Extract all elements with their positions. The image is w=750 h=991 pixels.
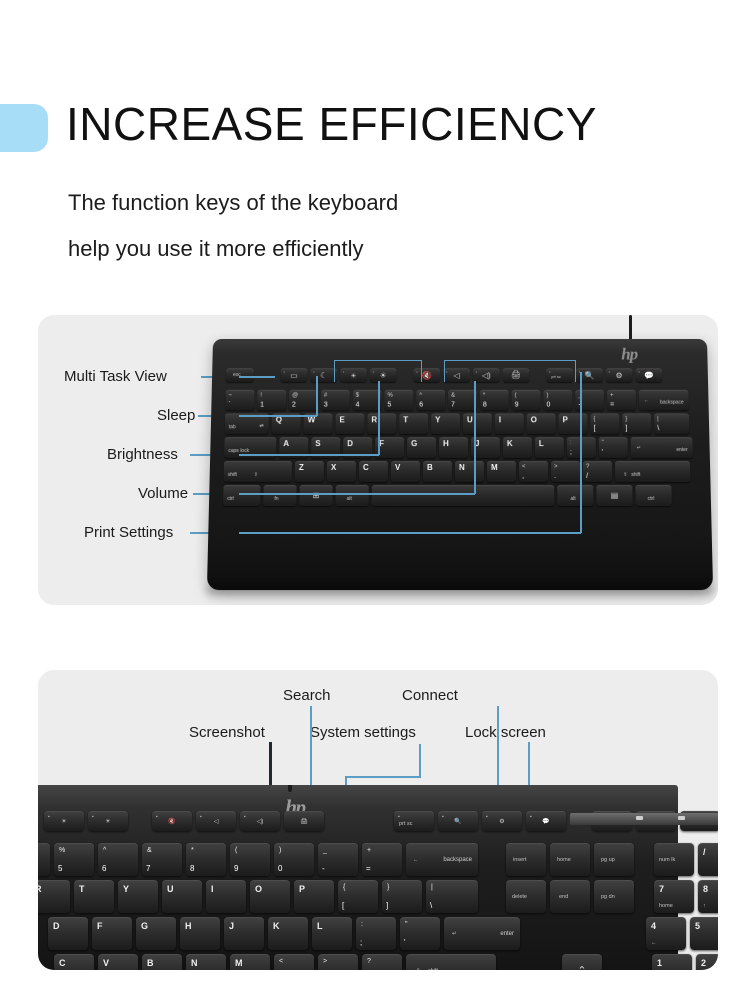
leader-seg-sleep-v [316, 376, 318, 416]
leader-sys-v1 [419, 744, 421, 777]
leader-seg-mtv [239, 376, 275, 378]
key2-numpad-5[interactable]: 5 [690, 917, 718, 950]
key-space[interactable] [372, 485, 555, 506]
key-5[interactable]: %5 [384, 390, 413, 411]
key2-minus[interactable]: _- [318, 843, 358, 876]
key-l[interactable]: L [535, 437, 564, 458]
key2-numpad-4[interactable]: 4← [646, 917, 686, 950]
key2-delete[interactable]: delete [506, 880, 546, 913]
keyboard-panel-top: Multi Task View Sleep Brightness Volume … [38, 315, 718, 605]
key2-bracket-right[interactable]: }] [382, 880, 422, 913]
key-screen-icon[interactable]: ▪▭ [280, 368, 307, 382]
label-connect: Connect [402, 687, 458, 705]
key2-5[interactable]: %5 [54, 843, 94, 876]
label-lock-screen: Lock screen [465, 724, 546, 742]
key-backslash[interactable]: |\ [654, 413, 689, 434]
key-g[interactable]: G [407, 437, 436, 458]
key2-c[interactable]: C [54, 954, 94, 970]
key2-equals[interactable]: += [362, 843, 402, 876]
leader-seg-print-h [239, 532, 581, 534]
key2-print-icon[interactable]: 🖨 [284, 811, 324, 831]
key-8[interactable]: *8 [480, 390, 509, 411]
key-bracket-right[interactable]: }] [622, 413, 651, 434]
key2-gear-icon[interactable]: ▪⚙ [482, 811, 522, 831]
key2-u[interactable]: U [162, 880, 202, 913]
led-indicator-2 [678, 816, 685, 820]
key-b[interactable]: B [423, 461, 452, 482]
key-2[interactable]: @2 [289, 390, 318, 411]
key2-7[interactable]: &7 [142, 843, 182, 876]
key2-b[interactable]: B [142, 954, 182, 970]
key-quote[interactable]: "' [599, 437, 628, 458]
key2-v[interactable]: V [98, 954, 138, 970]
key2-mute-icon[interactable]: ▪🔇 [152, 811, 192, 831]
page-title: INCREASE EFFICIENCY [66, 96, 597, 152]
key-z[interactable]: Z [295, 461, 324, 482]
key2-8[interactable]: *8 [186, 843, 226, 876]
key2-o[interactable]: O [250, 880, 290, 913]
page-root: INCREASE EFFICIENCY The function keys of… [0, 0, 750, 991]
key2-9[interactable]: (9 [230, 843, 270, 876]
key-o[interactable]: O [527, 413, 556, 434]
key-shift-right[interactable]: ⇧shift [615, 461, 690, 482]
key-comma[interactable]: <, [519, 461, 548, 482]
key2-n[interactable]: N [186, 954, 226, 970]
key-7[interactable]: &7 [448, 390, 477, 411]
leader-seg-bright-v [378, 381, 380, 455]
key-p[interactable]: P [559, 413, 588, 434]
bracket-volume [444, 360, 576, 382]
key2-y[interactable]: Y [118, 880, 158, 913]
key-k[interactable]: K [503, 437, 532, 458]
key2-num-lk[interactable]: num lk [654, 843, 694, 876]
led-indicator-1 [636, 816, 643, 820]
key-ctrl-left[interactable]: ctrl [223, 485, 261, 506]
leader-seg-vol-v [474, 381, 476, 494]
subtitle-line-1: The function keys of the keyboard [68, 188, 398, 218]
key2-r[interactable]: R [38, 880, 70, 913]
key2-numpad-2[interactable]: 2↓ [696, 954, 718, 970]
key2-chat-icon[interactable]: ▪💬 [526, 811, 566, 831]
key-h[interactable]: H [439, 437, 468, 458]
subtitle-line-2: help you use it more efficiently [68, 234, 364, 264]
status-bar-strip [570, 813, 718, 825]
key-shift-left[interactable]: shift⇧ [224, 461, 292, 482]
key-9[interactable]: (9 [512, 390, 541, 411]
key-bracket-left[interactable]: {[ [590, 413, 619, 434]
key2-semicolon[interactable]: :; [356, 917, 396, 950]
key2-l[interactable]: L [312, 917, 352, 950]
label-multi-task-view: Multi Task View [64, 368, 167, 386]
key2-brightness-up-icon[interactable]: ▪☀ [88, 811, 128, 831]
key-y[interactable]: Y [431, 413, 460, 434]
key2-volume-up-icon[interactable]: ▪◁) [240, 811, 280, 831]
key2-m[interactable]: M [230, 954, 270, 970]
leader-seg-print-v [580, 372, 582, 533]
key2-home[interactable]: home [550, 843, 590, 876]
key-gear-icon[interactable]: ▪⚙ [606, 368, 633, 382]
key-m[interactable]: M [487, 461, 516, 482]
key2-volume-down-icon[interactable]: ▪◁ [196, 811, 236, 831]
key-alt-right[interactable]: alt [557, 485, 593, 506]
label-sleep: Sleep [157, 407, 195, 425]
key-3[interactable]: #3 [321, 390, 350, 411]
key-1[interactable]: !1 [257, 390, 286, 411]
leader-seg-bright-h [239, 454, 379, 456]
key-fn[interactable]: fn [263, 485, 296, 506]
key2-p[interactable]: P [294, 880, 334, 913]
key2-t[interactable]: T [74, 880, 114, 913]
key-ctrl-right[interactable]: ctrl [635, 485, 672, 506]
key2-numpad-7[interactable]: 7home [654, 880, 694, 913]
key2-comma[interactable]: <, [274, 954, 314, 970]
key2-h[interactable]: H [180, 917, 220, 950]
key2-period[interactable]: >. [318, 954, 358, 970]
key-chat-icon[interactable]: ▪💬 [635, 368, 662, 382]
key2-0[interactable]: )0 [274, 843, 314, 876]
label-system-settings: System settings [310, 724, 416, 742]
key-6[interactable]: ^6 [416, 390, 445, 411]
key2-insert[interactable]: insert [506, 843, 546, 876]
key-enter[interactable]: ↵enter [631, 437, 693, 458]
label-screenshot: Screenshot [189, 724, 265, 742]
hp-logo: hp [614, 345, 644, 365]
key-c[interactable]: C [359, 461, 388, 482]
leader-sys-h [346, 776, 421, 778]
key-alt-left[interactable]: alt [335, 485, 368, 506]
key-slash[interactable]: ?/ [583, 461, 612, 482]
key2-numpad-divide[interactable]: / [698, 843, 718, 876]
key2-6[interactable]: ^6 [98, 843, 138, 876]
key2-pg-dn[interactable]: pg dn [594, 880, 634, 913]
key-windows-icon[interactable]: ⊞ [299, 485, 332, 506]
key-u[interactable]: U [463, 413, 492, 434]
key2-i[interactable]: I [206, 880, 246, 913]
keyboard-panel-bottom: Search Connect Screenshot System setting… [38, 670, 718, 970]
key2-d[interactable]: D [48, 917, 88, 950]
key2-numpad-1[interactable]: 1end [652, 954, 692, 970]
key2-j[interactable]: J [224, 917, 264, 950]
key-equals[interactable]: += [607, 390, 636, 411]
leader-connect-v1 [497, 706, 499, 788]
key-e[interactable]: E [335, 413, 364, 434]
key2-f[interactable]: F [92, 917, 132, 950]
key2-k[interactable]: K [268, 917, 308, 950]
key2-g[interactable]: G [136, 917, 176, 950]
key2-shift-right[interactable]: ⇧shift [406, 954, 496, 970]
key-i[interactable]: I [495, 413, 524, 434]
label-volume: Volume [138, 485, 188, 503]
key2-4[interactable]: $4 [38, 843, 50, 876]
key2-backspace[interactable]: ←backspace [406, 843, 478, 876]
bracket-brightness [334, 360, 422, 382]
key-backspace[interactable]: backspace← [639, 390, 689, 411]
keyboard-cable-bottom [288, 785, 292, 792]
key2-numpad-8[interactable]: 8↑ [698, 880, 718, 913]
label-search: Search [283, 687, 331, 705]
key-r[interactable]: R [367, 413, 396, 434]
key2-end[interactable]: end [550, 880, 590, 913]
key2-enter[interactable]: ↵enter [444, 917, 520, 950]
key-backtick[interactable]: ~` [225, 390, 254, 411]
leader-seg-vol-h [239, 493, 475, 495]
keyboard-body-bottom: hp ▪☀ ▪☀ ▪🔇 ▪◁ ▪◁) 🖨 ▪prt sc ▪🔍 ▪⚙ ▪💬 [38, 785, 678, 970]
key-n[interactable]: N [455, 461, 484, 482]
key-v[interactable]: V [391, 461, 420, 482]
key-t[interactable]: T [399, 413, 428, 434]
key2-arrow-up-icon[interactable]: ⌃ [562, 954, 602, 970]
key-x[interactable]: X [327, 461, 356, 482]
leader-seg-sleep-h [239, 415, 317, 417]
key2-prt-sc[interactable]: ▪prt sc [394, 811, 434, 831]
key2-brightness-down-icon[interactable]: ▪☀ [44, 811, 84, 831]
key-menu-icon[interactable]: ▤ [596, 485, 632, 506]
key2-bracket-left[interactable]: {[ [338, 880, 378, 913]
key2-slash[interactable]: ?/ [362, 954, 402, 970]
key-0[interactable]: )0 [543, 390, 572, 411]
key2-pg-up[interactable]: pg up [594, 843, 634, 876]
key-period[interactable]: >. [551, 461, 580, 482]
key2-quote[interactable]: "' [400, 917, 440, 950]
keyboard-illustration-bottom: hp ▪☀ ▪☀ ▪🔇 ▪◁ ▪◁) 🖨 ▪prt sc ▪🔍 ▪⚙ ▪💬 [38, 785, 718, 970]
key2-search-icon[interactable]: ▪🔍 [438, 811, 478, 831]
key2-backslash[interactable]: |\ [426, 880, 478, 913]
accent-block [0, 104, 48, 152]
label-brightness: Brightness [107, 446, 178, 464]
label-print-settings: Print Settings [84, 524, 173, 542]
